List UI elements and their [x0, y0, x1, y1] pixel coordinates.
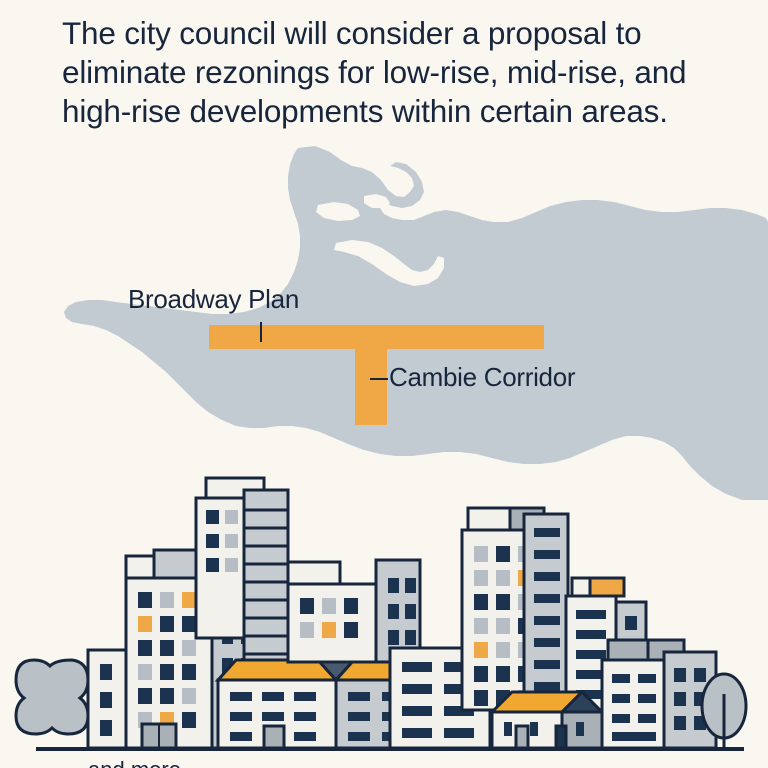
map-label-cambie-corridor: Cambie Corridor	[389, 364, 575, 390]
footer-cutoff-text: and more	[88, 757, 688, 768]
roofbox-f	[608, 640, 648, 660]
house-door-right-b	[556, 726, 566, 748]
roofbox-d	[468, 508, 510, 530]
infographic-canvas: The city council will consider a proposa…	[0, 0, 768, 768]
building-roofbox-a	[126, 556, 154, 578]
window-group	[100, 664, 112, 736]
roofbox-c	[288, 562, 340, 584]
penthouse-white-box	[572, 578, 590, 596]
house-door-right	[516, 726, 528, 748]
window-group	[534, 528, 560, 713]
page-title: The city council will consider a proposa…	[62, 14, 702, 131]
building-highrise-center	[244, 490, 288, 680]
tree-left	[16, 660, 88, 734]
cambie-corridor-band[interactable]	[355, 325, 387, 425]
penthouse-orange-box	[590, 578, 624, 596]
entrance-center	[264, 726, 284, 748]
map-label-broadway-plan: Broadway Plan	[128, 286, 299, 312]
